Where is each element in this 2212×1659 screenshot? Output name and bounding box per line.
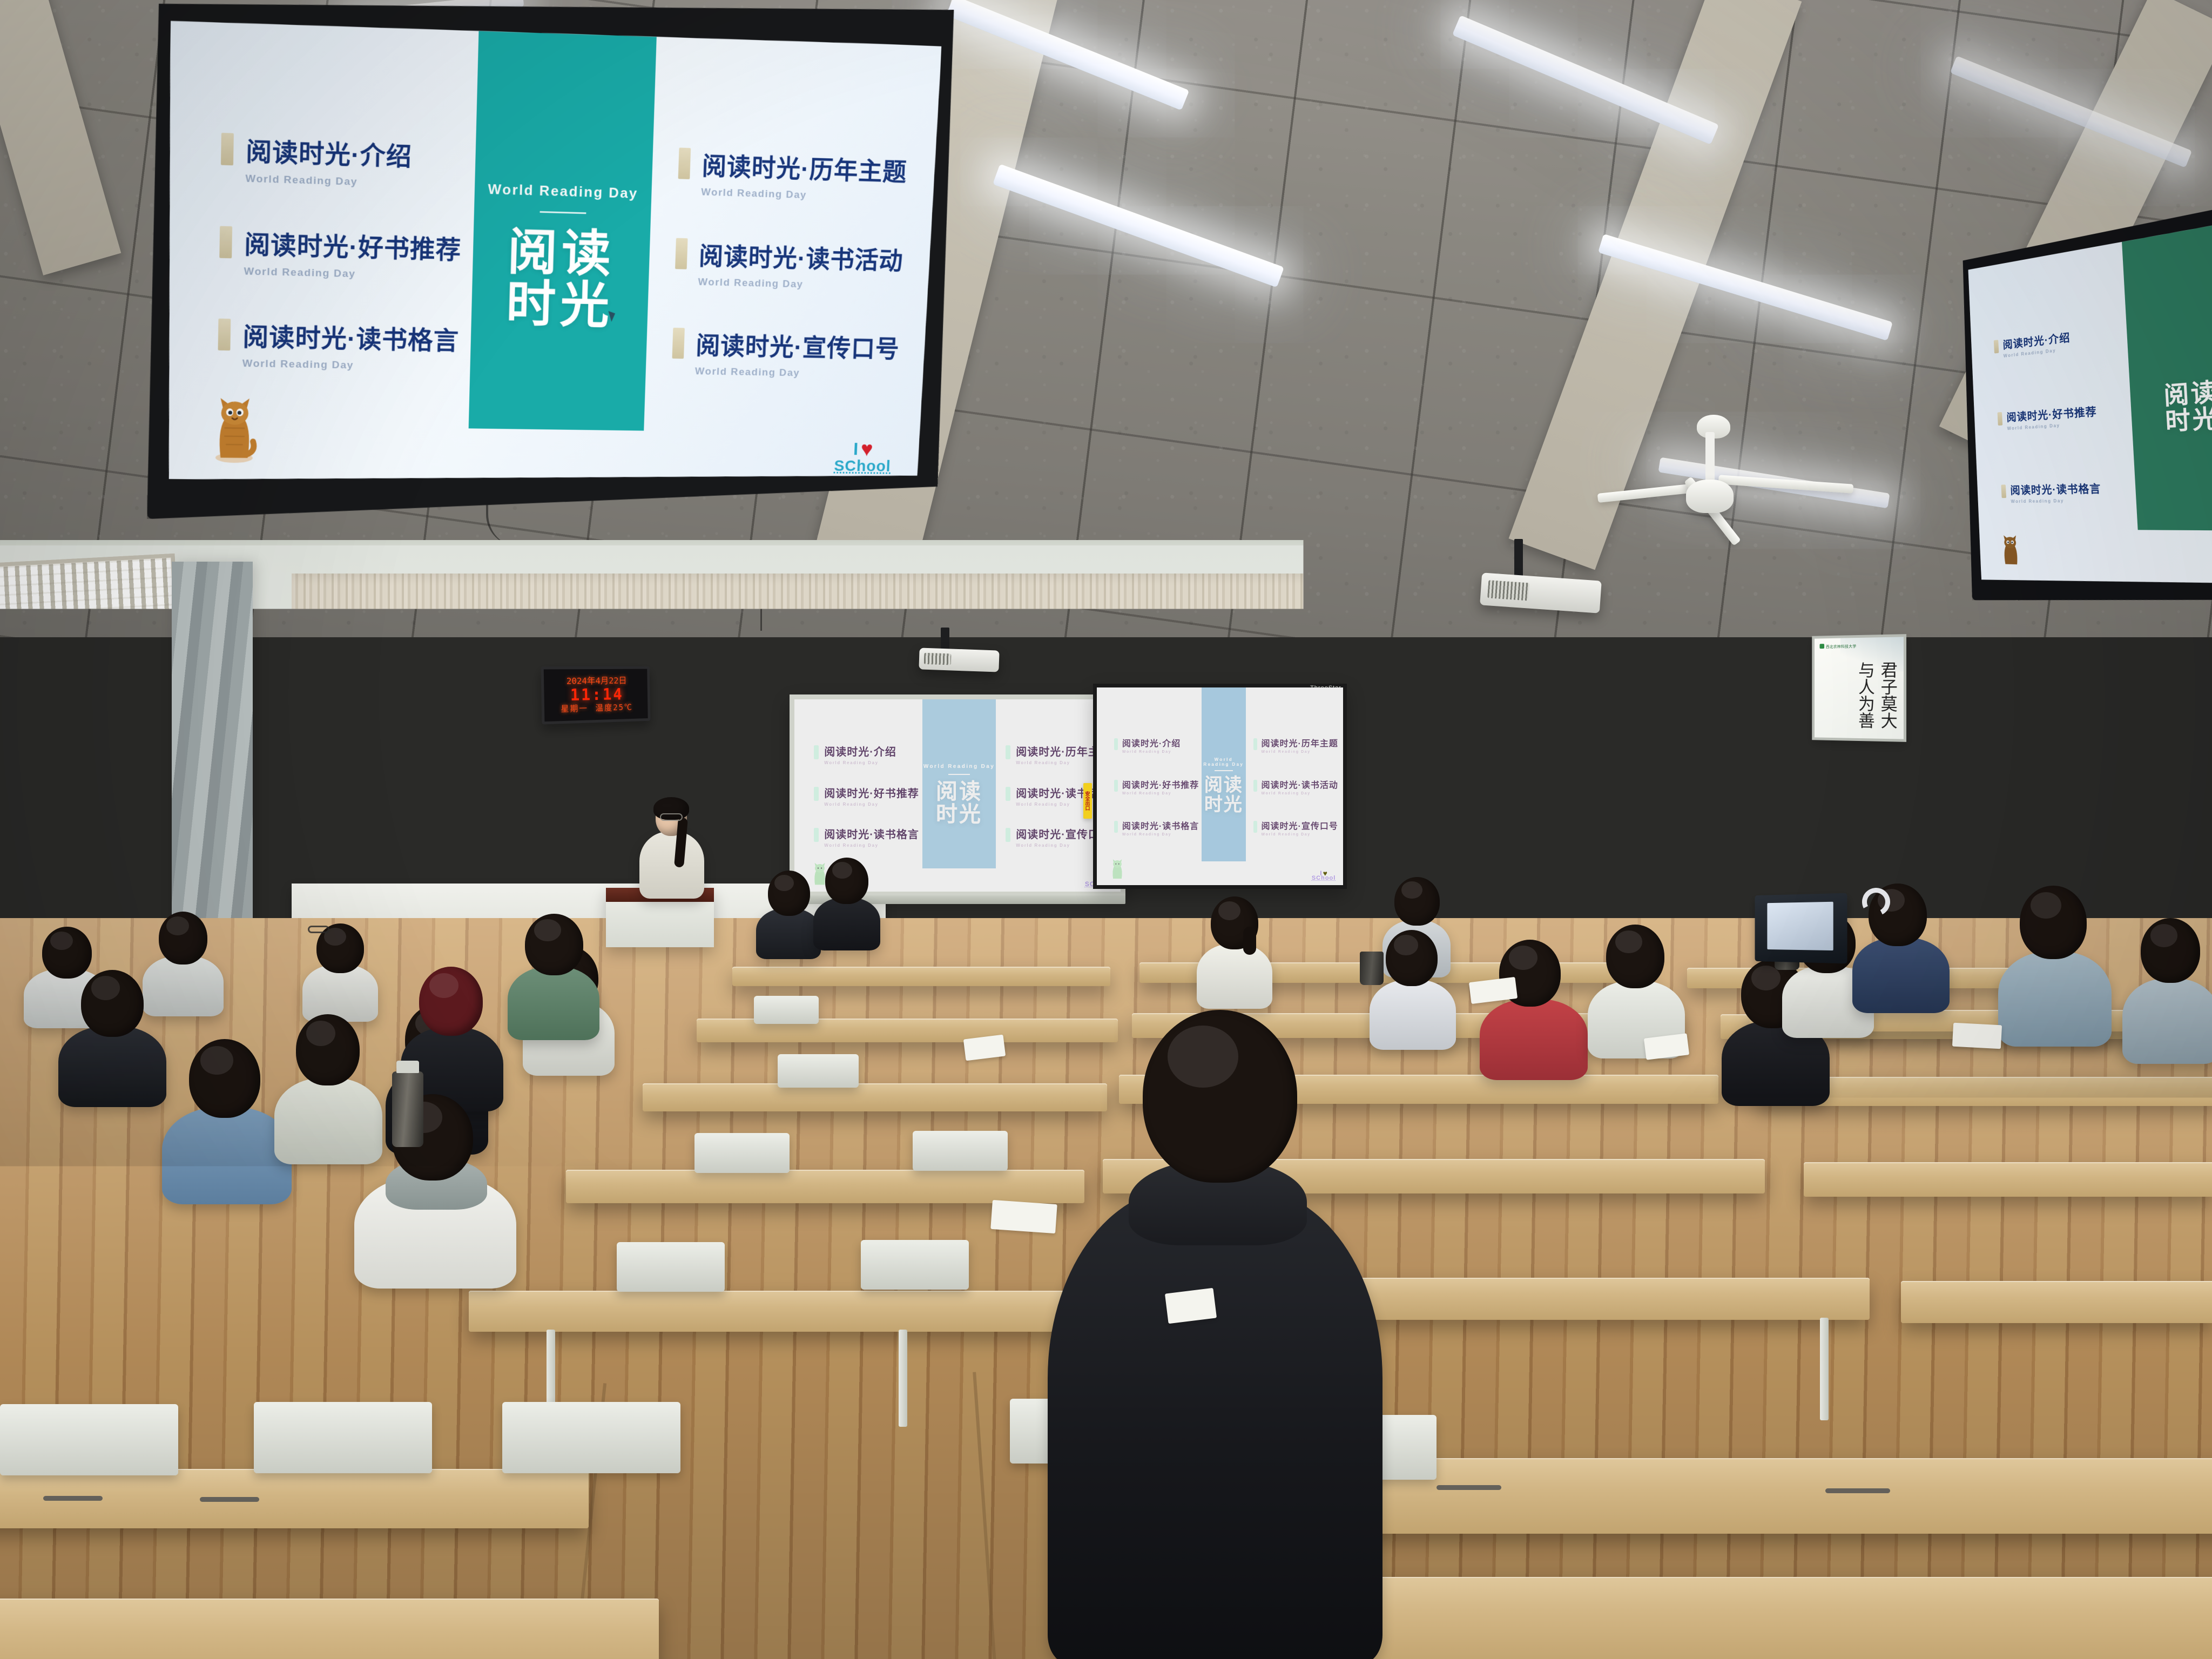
student-torso [1998, 952, 2112, 1047]
toc-item[interactable]: 阅读时光·介绍 World Reading Day [220, 131, 464, 192]
led-time: 11:14 [570, 686, 624, 703]
projection-surface: 阅读时光·介绍 World Reading Day 阅读时光·好书推荐 Worl… [1097, 687, 1343, 885]
presentation-slide-projected-right: 阅读时光·介绍 World Reading Day 阅读时光·好书推荐 Worl… [1097, 687, 1343, 885]
desk-row [469, 1291, 1088, 1332]
student-head [1386, 930, 1438, 986]
desk-row [643, 1083, 1107, 1111]
toc-tab-marker [1006, 745, 1010, 759]
student-hoodie [354, 1094, 516, 1278]
student-ponytail [1243, 927, 1256, 955]
paper-sheet[interactable] [1165, 1288, 1217, 1324]
seat-back [778, 1054, 859, 1088]
seat-back [502, 1402, 680, 1473]
toc-item: 阅读时光·读书活动 World Reading Day [1253, 778, 1338, 795]
student [162, 1039, 292, 1196]
student-green-jacket [508, 914, 599, 1033]
slide-left-column: 阅读时光·介绍 World Reading Day 阅读时光·好书推荐 Worl… [1097, 687, 1202, 885]
exit-strip-sign: 安全出口 [1083, 783, 1092, 819]
logo-word-school: SChool [1312, 875, 1336, 881]
door-handle-icon[interactable] [1488, 831, 1493, 854]
toc-tab-marker [672, 328, 685, 359]
toc-sublabel: World Reading Day [1122, 833, 1199, 837]
student [1197, 896, 1272, 999]
toc-sublabel: World Reading Day [701, 186, 906, 204]
presentation-slide-side: 阅读时光·介绍 World Reading Day 阅读时光·好书推荐 Worl… [1966, 219, 2212, 591]
i-love-school-logo: I ♥ SChool [834, 438, 892, 475]
toc-label: 阅读时光·读书活动 [1262, 778, 1338, 791]
student-head [1394, 877, 1440, 926]
toc-label: 阅读时光·读书格言 [1122, 819, 1199, 832]
student [756, 871, 821, 952]
drink-cup[interactable] [1360, 952, 1384, 985]
toc-item[interactable]: 阅读时光·介绍 World Reading Day [1993, 322, 2128, 360]
toc-tab-marker [1993, 340, 1999, 353]
toc-tab-marker [675, 238, 687, 269]
toc-label: 阅读时光·好书推荐 [1122, 778, 1199, 791]
slide-right-column: 阅读时光·历年主题 World Reading Day 阅读时光·读书活动 Wo… [1246, 687, 1343, 885]
slide-title-line2: 时光 [484, 278, 636, 333]
toc-tab-marker [678, 147, 691, 179]
toc-sublabel: World Reading Day [245, 173, 412, 190]
toc-sublabel: World Reading Day [1262, 833, 1338, 837]
toc-item: 阅读时光·宣传口号 World Reading Day [1253, 819, 1338, 837]
logo-letter-i: I [853, 440, 859, 458]
seat-back [913, 1131, 1008, 1171]
classroom-door[interactable] [1479, 737, 1584, 912]
presentation-slide-main: 阅读时光·介绍 World Reading Day 阅读时光·好书推荐 Worl… [164, 15, 942, 486]
student-head [1143, 1010, 1297, 1183]
desk-leg [899, 1330, 907, 1427]
student [1588, 925, 1685, 1049]
toc-label: 阅读时光·宣传口号 [696, 326, 900, 365]
calligraphy-column-2: 与人为善 [1856, 662, 1873, 729]
student-head [2020, 886, 2087, 959]
student [813, 858, 880, 944]
toc-label: 阅读时光·历年主题 [702, 146, 908, 188]
motorized-projection-screen[interactable]: ThreeStar 阅读时光·介绍 World Reading Day 阅读时 [1093, 684, 1347, 889]
student-presenter [636, 798, 707, 899]
toc-label: 阅读时光·介绍 [246, 131, 413, 173]
student-head [1606, 925, 1664, 988]
toc-sublabel: World Reading Day [694, 366, 898, 381]
toc-label: 阅读时光·好书推荐 [824, 785, 919, 800]
student [300, 915, 322, 942]
slide-divider-rule [539, 211, 586, 214]
desk-row [1901, 1281, 2212, 1323]
slide-title-line2: 时光 [923, 803, 995, 826]
student-torso [1048, 1188, 1382, 1659]
toc-label: 阅读时光·读书格言 [2010, 480, 2101, 497]
toc-tab-marker [1114, 821, 1118, 833]
toc-tab-marker [1006, 828, 1010, 842]
seat-back [754, 996, 819, 1024]
i-love-school-logo: I ♥ SChool [1312, 869, 1336, 881]
calligraphy-poster: 西北农林科技大学 君子莫大 与人为善 [1812, 634, 1906, 742]
student-torso [1480, 999, 1588, 1080]
ceiling-fan-motor [1686, 480, 1734, 513]
university-logo: 西北农林科技大学 [1819, 643, 1856, 650]
toc-tab-marker [1006, 787, 1010, 801]
student-torso [162, 1107, 292, 1204]
ceiling-camera [626, 635, 640, 648]
toc-sublabel: World Reading Day [2011, 498, 2101, 504]
desk-cable-slot [200, 1497, 259, 1502]
seat-back [617, 1242, 725, 1292]
toc-label: 阅读时光·读书格言 [242, 317, 460, 357]
toc-tab-marker [1114, 738, 1118, 750]
slide-title-line1: 阅读 [1202, 776, 1246, 795]
center-band-fill [2122, 219, 2212, 531]
warning-body: 严禁用记号笔在 电子白板上书写 [741, 794, 773, 806]
desk-row [732, 967, 1110, 986]
toc-tab-marker [219, 226, 232, 259]
seat-back [861, 1240, 969, 1290]
toc-sublabel: World Reading Day [824, 760, 896, 765]
glasses-icon [308, 926, 329, 933]
student [2122, 918, 2212, 1053]
toc-sublabel: World Reading Day [698, 276, 902, 293]
toc-item: 阅读时光·好书推荐 World Reading Day [814, 785, 919, 807]
student-torso [58, 1026, 166, 1107]
paper-sheet[interactable] [990, 1200, 1057, 1233]
cat-mascot-icon [1109, 857, 1125, 881]
slide-divider-rule [1215, 770, 1233, 771]
glasses-icon [660, 813, 683, 821]
toc-label: 阅读时光·读书活动 [698, 237, 904, 276]
toc-tab-marker [218, 319, 231, 350]
toc-item: 阅读时光·读书格言 World Reading Day [814, 826, 919, 848]
led-extra: 温度25℃ [595, 703, 632, 712]
toc-label: 阅读时光·历年主题 [1262, 736, 1338, 749]
evacuation-floor-plan [1645, 781, 1673, 808]
window-curtain[interactable] [172, 562, 253, 950]
toc-item: 阅读时光·读书格言 World Reading Day [1114, 819, 1199, 837]
student-torso [2122, 979, 2212, 1064]
toc-item[interactable]: 阅读时光·宣传口号 World Reading Day [672, 326, 900, 381]
desk-row-front [1307, 1577, 2212, 1659]
heart-icon: ♥ [860, 439, 873, 460]
desk-cable-slot [1825, 1488, 1890, 1493]
toc-tab-marker [814, 787, 819, 801]
toc-tab-marker [814, 745, 819, 759]
desk-row [566, 1170, 1084, 1203]
student-head [525, 914, 583, 975]
student-foreground [1048, 1010, 1382, 1658]
calligraphy-text: 君子莫大 与人为善 [1856, 661, 1896, 729]
toc-sublabel: World Reading Day [1262, 750, 1338, 754]
toc-label: 阅读时光·读书格言 [824, 826, 919, 841]
toc-sublabel: World Reading Day [242, 358, 458, 374]
tv-panel: 阅读时光·介绍 World Reading Day 阅读时光·好书推荐 Worl… [164, 15, 942, 486]
toc-sublabel: World Reading Day [1122, 750, 1181, 754]
slide-title-line2: 时光 [1202, 795, 1246, 815]
student-torso [1852, 938, 1950, 1013]
toc-sublabel: World Reading Day [1262, 792, 1338, 795]
toc-tab-marker [2001, 485, 2006, 498]
student-head [81, 970, 144, 1037]
ceiling-camera [1355, 688, 1374, 704]
student-head [2141, 918, 2200, 983]
toc-tab-marker [1253, 780, 1257, 792]
toc-sublabel: World Reading Day [244, 266, 461, 283]
student [1998, 886, 2112, 1037]
toc-item[interactable]: 阅读时光·历年主题 World Reading Day [678, 145, 908, 204]
desk-cable-slot [1437, 1485, 1501, 1490]
window-blinds[interactable] [0, 680, 173, 942]
seat-back [254, 1402, 432, 1473]
student-head [189, 1039, 260, 1118]
slide-title-line2: 时光 [2164, 405, 2212, 434]
seat-back [0, 1404, 178, 1475]
toc-item: 阅读时光·好书推荐 World Reading Day [1114, 778, 1199, 795]
seat-back [694, 1133, 790, 1173]
desk-row-front [0, 1599, 659, 1659]
whiteboard-warning-sign: 警告提示 严禁用记号笔在 电子白板上书写 [737, 784, 778, 810]
slide-left-column: 阅读时光·介绍 World Reading Day 阅读时光·好书推荐 Worl… [1966, 240, 2141, 586]
laptop-display[interactable] [1755, 893, 1847, 964]
led-weekday: 星期一 [561, 704, 588, 713]
toc-item[interactable]: 阅读时光·读书格言 World Reading Day [218, 316, 460, 374]
student-red-top [1480, 940, 1588, 1069]
toc-label: 阅读时光·好书推荐 [244, 225, 462, 266]
classroom-scene: 阅读时光·介绍 World Reading Day 阅读时光·好书推荐 Worl… [0, 0, 2212, 1659]
slide-center-band: World Reading Day 阅读 时光 [922, 699, 996, 892]
main-display-tv[interactable]: 阅读时光·介绍 World Reading Day 阅读时光·好书推荐 Worl… [147, 0, 959, 524]
student-head [825, 858, 868, 904]
logo-mark-icon [1819, 644, 1824, 649]
student-torso [508, 967, 599, 1040]
toc-item: 阅读时光·历年主题 World Reading Day [1253, 736, 1338, 754]
student-torso [1370, 980, 1456, 1050]
slide-right-column: 阅读时光·历年主题 World Reading Day 阅读时光·读书活动 Wo… [642, 35, 942, 486]
slide-center-band: World Reading Day 阅读 时光 [1202, 687, 1246, 885]
window-left-upper [0, 554, 181, 693]
led-clock-sign: 2024年4月22日 11:14 星期一 温度25℃ [541, 666, 651, 725]
toc-tab-marker [221, 133, 234, 165]
exit-sign-text: 安全出口 [1649, 764, 1667, 770]
slide-title-line1: 阅读 [923, 780, 995, 803]
exit-sign-label: 安全出口 [1084, 791, 1091, 811]
desk-cable-slot [43, 1496, 103, 1501]
student-torso [1197, 944, 1272, 1009]
desk-row [1804, 1162, 2212, 1197]
student-head [296, 1014, 360, 1085]
tv-panel: 阅读时光·介绍 World Reading Day 阅读时光·好书推荐 Worl… [1966, 219, 2212, 591]
institution-name: 西北农林科技大学 [1826, 645, 1857, 649]
toc-item: 阅读时光·介绍 World Reading Day [814, 743, 919, 765]
toc-item: 阅读时光·介绍 World Reading Day [1114, 736, 1199, 754]
cat-mascot-icon [208, 390, 260, 467]
presenter-torso [639, 832, 704, 899]
slide-title-line1: 阅读 [485, 225, 637, 281]
warning-title: 警告提示 [746, 788, 768, 795]
toc-tab-marker [1114, 780, 1118, 792]
toc-tab-marker [1253, 738, 1257, 750]
student-head [768, 871, 810, 916]
student [58, 970, 166, 1100]
classroom-notice-card: 教室使用须知 [1602, 785, 1629, 801]
exit-direction-sign: 安全出口 [1643, 761, 1673, 771]
toc-tab-marker [814, 828, 819, 842]
toc-sublabel: World Reading Day [1122, 792, 1199, 795]
toc-label: 阅读时光·介绍 [1122, 736, 1181, 749]
toc-sublabel: World Reading Day [824, 843, 919, 848]
student-head [159, 912, 207, 965]
student-torso [756, 908, 821, 959]
toc-item[interactable]: 阅读时光·好书推荐 World Reading Day [219, 224, 462, 282]
bottle-cap [396, 1061, 419, 1073]
student-headphones [1852, 884, 1950, 1002]
toc-item[interactable]: 阅读时光·好书推荐 World Reading Day [1997, 401, 2132, 432]
slide-title-line1: 阅读 [2163, 379, 2212, 409]
wall-speaker [334, 647, 365, 689]
water-bottle[interactable] [392, 1071, 423, 1147]
toc-label: 阅读时光·宣传口号 [1262, 819, 1338, 832]
notice-text: 教室使用须知 [1611, 785, 1629, 800]
toc-tab-marker [1997, 412, 2002, 426]
led-date: 2024年4月22日 [567, 677, 627, 686]
desk-leg [1820, 1318, 1829, 1420]
slide-divider-rule [948, 774, 970, 775]
window-blinds[interactable] [0, 558, 177, 689]
paper-sheet[interactable] [1952, 1023, 2002, 1049]
toc-sublabel: World Reading Day [824, 802, 919, 807]
student-head [419, 967, 483, 1036]
student [1370, 930, 1456, 1038]
student-torso [813, 898, 880, 950]
slide-center-band: World Reading Day 阅读 时光 [467, 28, 657, 484]
slide-brand-subtitle: World Reading Day [923, 764, 995, 770]
calligraphy-column-1: 君子莫大 [1878, 661, 1896, 729]
logo-word-school: SChool [834, 457, 892, 475]
toc-item[interactable]: 阅读时光·读书格言 World Reading Day [2001, 480, 2136, 504]
toc-item[interactable]: 阅读时光·读书活动 World Reading Day [675, 236, 904, 293]
window-left-lower [0, 676, 177, 947]
toc-tab-marker [1253, 821, 1257, 833]
toc-label: 阅读时光·介绍 [824, 743, 896, 759]
slide-brand-subtitle: World Reading Day [1202, 757, 1246, 767]
